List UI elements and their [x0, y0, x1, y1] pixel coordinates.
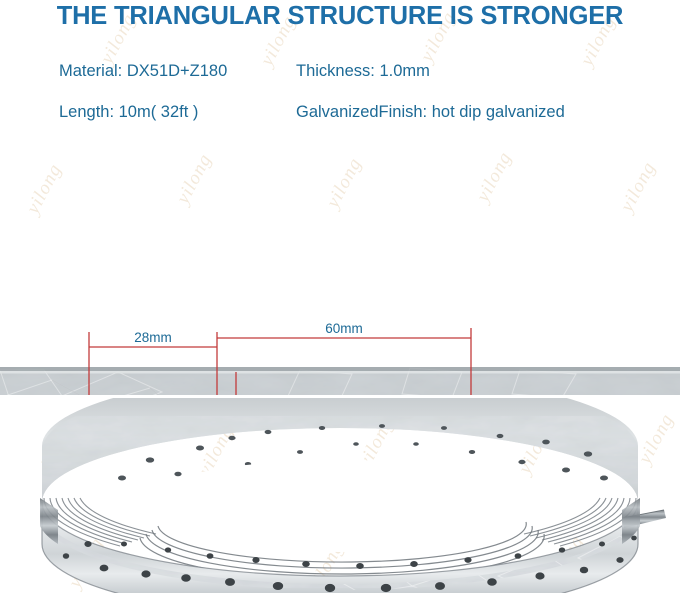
spec-length: Length: 10m( 32ft ) [59, 103, 198, 122]
spec-thickness: Thickness: 1.0mm [296, 62, 430, 81]
dimension-diagram: 28mm 60mm 6mm 4mm 4mm [0, 150, 680, 395]
label-28mm: 28mm [134, 330, 172, 345]
label-60mm: 60mm [325, 321, 363, 336]
page-title: THE TRIANGULAR STRUCTURE IS STRONGER [0, 2, 680, 31]
product-photo [0, 398, 680, 593]
coil-inner-opening [134, 460, 546, 552]
spec-material: Material: DX51D+Z180 [59, 62, 227, 81]
metal-strip [0, 367, 680, 395]
spec-finish: GalvanizedFinish: hot dip galvanized [296, 103, 565, 122]
